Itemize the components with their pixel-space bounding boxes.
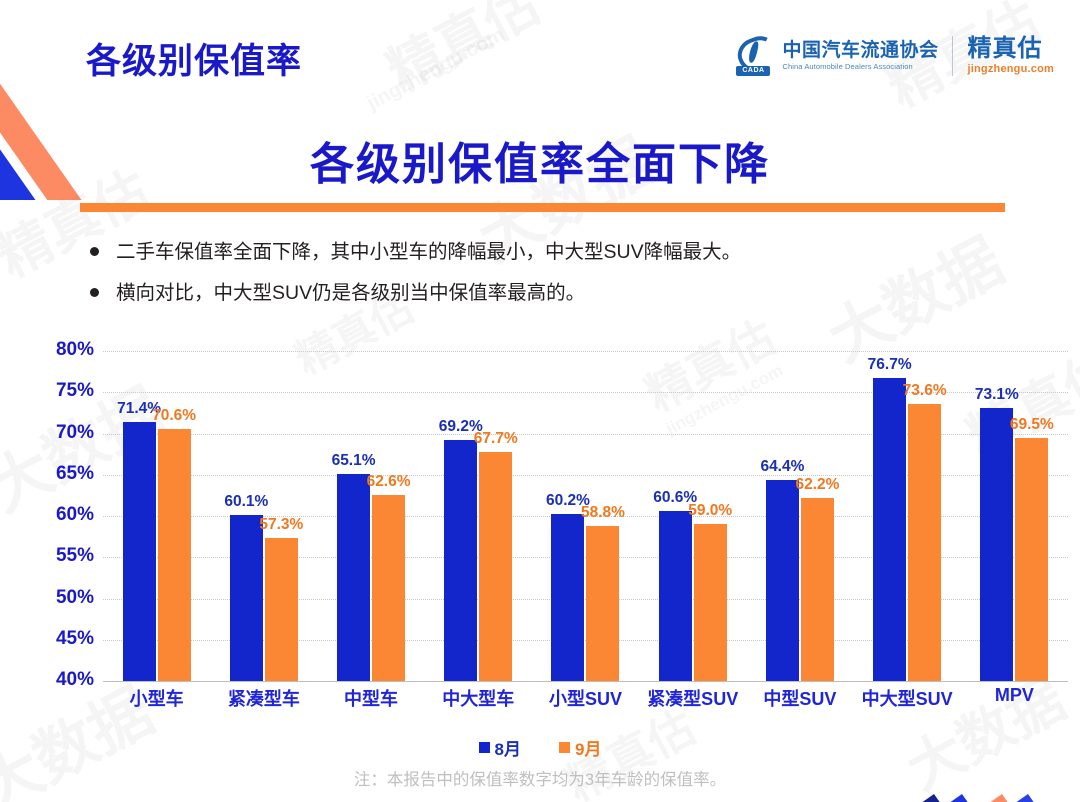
jingzhengu-name-en: jingzhengu.com [967,64,1054,75]
bar-value-label: 73.1% [975,386,1019,404]
bar-group: 64.4%62.2% [746,351,853,681]
bar-pair: 76.7%73.6% [854,351,961,681]
bar-value-label: 62.6% [367,473,411,491]
bullet-list: 二手车保值率全面下降，其中小型车的降幅最小，中大型SUV降幅最大。 横向对比，中… [90,238,990,321]
bar-value-label: 64.4% [760,458,804,476]
bullet-text: 二手车保值率全面下降，其中小型车的降幅最小，中大型SUV降幅最大。 [116,238,741,266]
cada-logo: CADA 中国汽车流通协会 China Automobile Dealers A… [735,36,938,76]
bar[interactable]: 73.6% [908,404,941,681]
cada-name-cn: 中国汽车流通协会 [782,41,938,61]
bar-value-label: 67.7% [474,430,518,448]
bar[interactable]: 71.4% [123,422,156,681]
bar[interactable]: 73.1% [980,408,1013,681]
bar-value-label: 65.1% [332,452,376,470]
bar[interactable]: 62.6% [372,495,405,681]
x-axis-category-label: 小型SUV [532,685,639,711]
bar-group: 60.2%58.8% [532,351,639,681]
stripe-blue [929,794,1080,802]
bar-pair: 71.4%70.6% [103,351,210,681]
stripe-blue-outer [980,794,1080,802]
y-axis-tick-label: 45% [56,628,94,650]
bar-group: 71.4%70.6% [103,351,210,681]
bar-value-label: 59.0% [688,502,732,520]
bullet-dot-icon [90,247,99,256]
x-axis-category-label: 小型车 [103,685,210,711]
bullet-item: 二手车保值率全面下降，其中小型车的降幅最小，中大型SUV降幅最大。 [90,238,990,266]
jingzhengu-logo: 精真估 jingzhengu.com [967,37,1054,75]
y-axis-tick-label: 40% [56,669,94,691]
bar-value-label: 62.2% [795,476,839,494]
y-axis-labels: 80%75%70%65%60%55%50%45%40% [30,351,94,681]
bar[interactable]: 62.2% [801,498,834,681]
main-title: 各级别保值率全面下降 [0,128,1080,192]
watermark: 精真估 [371,0,551,106]
x-axis-category-label: 中型车 [317,685,424,711]
bar-group: 65.1%62.6% [317,351,424,681]
bar[interactable]: 69.2% [444,440,477,681]
footnote: 注：本报告中的保值率数字均为3年车龄的保值率。 [0,766,1080,790]
legend-label: 8月 [495,735,521,760]
cada-name-en: China Automobile Dealers Association [782,62,938,71]
cada-emblem-icon: CADA [735,36,775,76]
bar-value-label: 57.3% [259,516,303,534]
bar[interactable]: 60.1% [230,515,263,681]
bar-groups: 71.4%70.6%60.1%57.3%65.1%62.6%69.2%67.7%… [103,351,1068,681]
bar[interactable]: 76.7% [873,378,906,681]
x-axis-category-label: 中大型车 [425,685,532,711]
bar[interactable]: 69.5% [1015,438,1048,681]
legend-swatch-icon [559,742,570,753]
bar-group: 60.6%59.0% [639,351,746,681]
x-axis-category-label: MPV [961,685,1068,711]
legend-swatch-icon [479,742,490,753]
y-axis-tick-label: 70% [56,422,94,444]
y-axis-tick-label: 60% [56,504,94,526]
y-axis-tick-label: 55% [56,545,94,567]
bar[interactable]: 60.6% [659,511,692,681]
legend-item-sep: 9月 [559,735,601,760]
bar-group: 69.2%67.7% [425,351,532,681]
bar-pair: 65.1%62.6% [317,351,424,681]
bar[interactable]: 57.3% [265,538,298,681]
watermark: jingzhengu.com [364,24,509,116]
y-axis-tick-label: 50% [56,587,94,609]
jingzhengu-name-cn: 精真估 [967,37,1054,61]
stripe-navy [905,794,1080,802]
bullet-text: 横向对比，中大型SUV仍是各级别当中保值率最高的。 [116,279,585,307]
bar-group: 60.1%57.3% [210,351,317,681]
chart-legend: 8月 9月 [0,735,1080,760]
legend-label: 9月 [575,735,601,760]
x-axis-category-label: 中大型SUV [854,685,961,711]
x-axis-category-label: 紧凑型车 [210,685,317,711]
bar-pair: 60.6%59.0% [639,351,746,681]
slide-root: 精真估 jingzhengu.com 精真估 大数据 大数据 大数据 精真估 j… [0,0,1080,802]
bar-pair: 60.2%58.8% [532,351,639,681]
bar-group: 76.7%73.6% [854,351,961,681]
stripe-orange [981,794,1080,802]
bar-pair: 69.2%67.7% [425,351,532,681]
bullet-dot-icon [90,288,99,297]
x-axis-category-label: 紧凑型SUV [639,685,746,711]
bar[interactable]: 70.6% [158,429,191,681]
brand-separator [952,36,953,76]
bar-value-label: 70.6% [152,407,196,425]
x-axis-category-label: 中型SUV [746,685,853,711]
gridline [103,681,1068,682]
bar-pair: 64.4%62.2% [746,351,853,681]
bar-pair: 60.1%57.3% [210,351,317,681]
y-axis-tick-label: 65% [56,463,94,485]
title-underline-rule [80,203,1005,212]
bar[interactable]: 65.1% [337,474,370,681]
plot-area: 71.4%70.6%60.1%57.3%65.1%62.6%69.2%67.7%… [103,351,1068,681]
bar[interactable]: 58.8% [586,526,619,681]
bar[interactable]: 67.7% [479,452,512,681]
cada-plate-label: CADA [736,66,770,76]
y-axis-tick-label: 80% [56,339,94,361]
bar-value-label: 73.6% [903,382,947,400]
bar-value-label: 76.7% [868,356,912,374]
bar[interactable]: 64.4% [766,480,799,681]
y-axis-tick-label: 75% [56,380,94,402]
x-axis-labels: 小型车紧凑型车中型车中大型车小型SUV紧凑型SUV中型SUV中大型SUVMPV [103,685,1068,711]
legend-item-aug: 8月 [479,735,521,760]
brand-bar: CADA 中国汽车流通协会 China Automobile Dealers A… [735,36,1054,76]
bar-pair: 73.1%69.5% [961,351,1068,681]
bar[interactable]: 59.0% [694,524,727,681]
bar-value-label: 60.1% [224,493,268,511]
bar-chart: 80%75%70%65%60%55%50%45%40% 71.4%70.6%60… [0,340,1080,685]
bar-value-label: 69.5% [1010,416,1054,434]
bar[interactable]: 60.2% [551,514,584,681]
bar-group: 73.1%69.5% [961,351,1068,681]
bullet-item: 横向对比，中大型SUV仍是各级别当中保值率最高的。 [90,279,990,307]
bar-value-label: 58.8% [581,504,625,522]
header-title: 各级别保值率 [86,33,302,84]
